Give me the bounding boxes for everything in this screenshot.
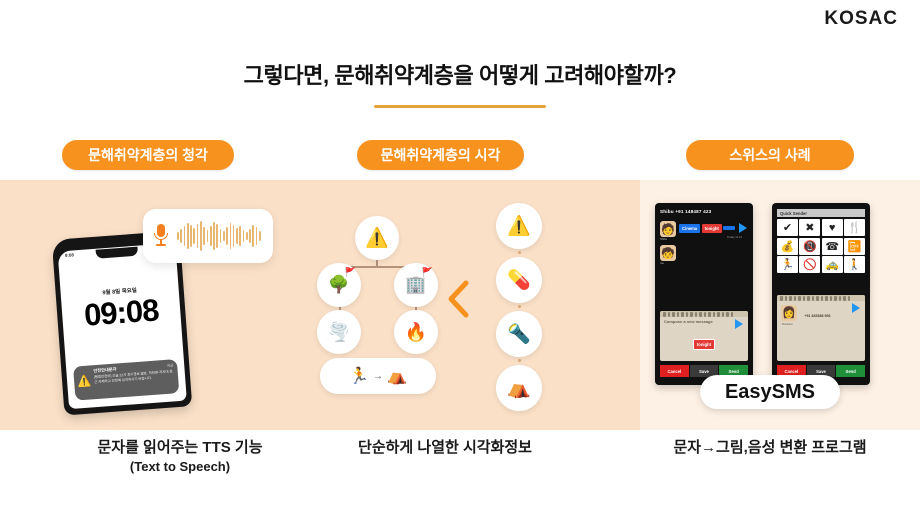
- brand-logo: KOSAC: [824, 8, 898, 30]
- waveform-bar: [230, 223, 232, 249]
- hazard-badge-icon: 🚩: [345, 267, 356, 278]
- cross-tile[interactable]: ✖: [799, 219, 820, 236]
- section-pill-vision: 문해취약계층의 시각: [357, 140, 524, 170]
- check-tile[interactable]: ✔: [777, 219, 798, 236]
- money-tile[interactable]: 💰: [777, 238, 798, 255]
- status-time: 9:08: [65, 252, 75, 261]
- spiral-ring: [681, 312, 684, 317]
- send-button-2[interactable]: Send: [836, 365, 865, 377]
- phone-notch: [96, 247, 139, 259]
- waveform-bar: [210, 226, 212, 246]
- waveform-bar: [243, 230, 245, 242]
- spiral-ring: [821, 296, 824, 301]
- tents-icon: ⛺: [387, 366, 407, 386]
- pill-capsule-icon: 💊: [496, 257, 542, 303]
- microphone-icon: [153, 223, 169, 249]
- fire-icon: 🔥: [394, 310, 438, 354]
- evacuate-pill: 🏃 → ⛺: [320, 358, 436, 394]
- spiral-ring: [839, 296, 842, 301]
- spiral-ring: [798, 296, 801, 301]
- waveform-bar: [233, 225, 235, 247]
- waveform-bar: [177, 232, 179, 240]
- band-arrow-head: [556, 180, 634, 430]
- hazard-badge-icon-2: 🚩: [422, 267, 433, 278]
- play-icon: [739, 223, 747, 233]
- sms-message-row-incoming: 🧑 Shibu Cinema tonight Today 11:14: [660, 221, 748, 239]
- spiral-ring: [731, 312, 734, 317]
- spiral-ring: [677, 312, 680, 317]
- lockscreen-time: 09:08: [61, 291, 181, 336]
- waveform-bar: [236, 228, 238, 244]
- section-pill-hearing: 문해취약계층의 청각: [62, 140, 234, 170]
- spiral-ring: [780, 296, 783, 301]
- waveform-bar: [193, 228, 195, 244]
- waveform-graphic: [177, 219, 261, 253]
- tree-hazard-icon: 🌳 🚩: [317, 263, 361, 307]
- sms-contact-header: Shibu +91 148487 423: [660, 209, 748, 217]
- spiral-ring: [695, 312, 698, 317]
- message-tag-strip: Cinema tonight: [679, 222, 748, 234]
- page-title: 그렇다면, 문해취약계층을 어떻게 고려해야할까?: [0, 58, 920, 90]
- no-signal-tile[interactable]: 📵: [799, 238, 820, 255]
- caption-swiss: 문자→그림,음성 변환 프로그램: [630, 436, 910, 457]
- spiral-ring: [825, 296, 828, 301]
- alert-warning-icon: ⚠️: [77, 376, 91, 388]
- caption-hearing-main: 문자를 읽어주는 TTS 기능: [97, 439, 262, 456]
- waveform-bar: [252, 225, 254, 247]
- pictogram-grid: ✔✖♥🍴💰📵☎📴🏃🚫🚕🚶: [777, 219, 865, 273]
- quick-sender-header: Quick Sender: [777, 209, 865, 217]
- waveform-bar: [213, 222, 215, 250]
- caption-hearing: 문자를 읽어주는 TTS 기능 (Text to Speech): [30, 436, 330, 474]
- phone-screen: 9:08 ▮▮ 9월 8일 목요일 09:08 ⚠️ 안전안내문자 지금 [행정…: [58, 243, 187, 409]
- phone-tile[interactable]: ☎: [822, 238, 843, 255]
- spiral-ring: [812, 296, 815, 301]
- waveform-bar: [184, 226, 186, 246]
- heart-tile[interactable]: ♥: [822, 219, 843, 236]
- warning-triangle-icon-col: ⚠️: [496, 203, 542, 249]
- spiral-ring: [686, 312, 689, 317]
- col-dot-2: [518, 305, 521, 308]
- spiral-ring: [843, 296, 846, 301]
- section-pill-swiss: 스위스의 사례: [686, 140, 854, 170]
- compose-content: tonight: [660, 326, 748, 361]
- compose-notepad[interactable]: Compose a new message tonight: [660, 311, 748, 361]
- emergency-alert-card[interactable]: ⚠️ 안전안내문자 지금 [행정안전부] 오늘 22시 호우경보 발효. 하천변…: [73, 359, 179, 401]
- reply-name: me: [660, 261, 664, 265]
- waveform-bar: [239, 226, 241, 246]
- spiral-ring: [699, 312, 702, 317]
- easysms-message-phone: Shibu +91 148487 423 🧑 Shibu Cinema toni…: [655, 203, 753, 385]
- spiral-ring: [789, 296, 792, 301]
- waveform-bar: [216, 224, 218, 248]
- tents-icon-col: ⛺: [496, 365, 542, 411]
- taxi-tile[interactable]: 🚕: [822, 256, 843, 273]
- caption-vision: 단순하게 나열한 시각화정보: [320, 436, 570, 457]
- spiral-ring: [663, 312, 666, 317]
- waveform-bar: [190, 225, 192, 247]
- running-person-icon: 🏃: [349, 366, 369, 386]
- sender-name: Shibu: [660, 237, 667, 241]
- waveform-bar: [180, 229, 182, 243]
- spiral-ring: [803, 296, 806, 301]
- avatar-me: 🧒: [660, 245, 676, 261]
- spiral-ring: [726, 312, 729, 317]
- waveform-bar: [256, 227, 258, 245]
- contact-number: +91 845388 556: [804, 314, 830, 318]
- spiral-ring: [704, 312, 707, 317]
- waveform-bar: [226, 227, 228, 245]
- flashlight-icon: 🔦: [496, 311, 542, 357]
- tag-cinema: Cinema: [679, 224, 700, 233]
- contact-avatar: 👩: [781, 305, 797, 321]
- arrow-right-icon: →: [373, 371, 383, 382]
- tornado-icon: 🌪️: [317, 310, 361, 354]
- waveform-bar: [246, 232, 248, 240]
- col-dot-3: [518, 359, 521, 362]
- caption-hearing-sub: (Text to Speech): [30, 459, 330, 474]
- avatar: 🧑: [660, 221, 676, 237]
- slide-root: KOSAC 그렇다면, 문해취약계층을 어떻게 고려해야할까? 문해취약계층의 …: [0, 0, 920, 518]
- building-icon: 🏢: [405, 275, 426, 295]
- food-tile[interactable]: 🍴: [844, 219, 865, 236]
- warning-triangle-icon: ⚠️: [355, 216, 399, 260]
- compose-play-icon[interactable]: [735, 319, 743, 329]
- waveform-bar: [220, 229, 222, 243]
- title-underline: [374, 105, 546, 108]
- sms-message-row-outgoing: 🧒 me: [660, 245, 748, 263]
- tree-icon: 🌳: [328, 275, 349, 295]
- building-hazard-icon: 🏢 🚩: [394, 263, 438, 307]
- running-tile[interactable]: 🏃: [777, 256, 798, 273]
- waveform-bar: [200, 221, 202, 251]
- waveform-bar: [259, 231, 261, 241]
- compose-tag: tonight: [693, 339, 715, 350]
- tts-voice-card[interactable]: [143, 209, 273, 263]
- quicksender-notepad[interactable]: 👩 +91 845388 556 Manisha: [777, 295, 865, 361]
- spiral-ring: [794, 296, 797, 301]
- spiral-ring: [668, 312, 671, 317]
- quicksender-play-icon[interactable]: [852, 303, 860, 313]
- spiral-ring: [785, 296, 788, 301]
- tag-tonight: tonight: [702, 224, 722, 233]
- waveform-bar: [203, 227, 205, 245]
- spiral-ring: [722, 312, 725, 317]
- waveform-bar: [207, 230, 209, 242]
- tag-extra: [723, 226, 735, 230]
- call-end-tile[interactable]: 📴: [844, 238, 865, 255]
- spiral-ring: [816, 296, 819, 301]
- spiral-ring: [708, 312, 711, 317]
- spiral-ring: [834, 296, 837, 301]
- spiral-ring: [807, 296, 810, 301]
- waveform-bar: [249, 229, 251, 243]
- no-phone-tile[interactable]: 🚫: [799, 256, 820, 273]
- contact-name: Manisha: [782, 322, 861, 326]
- spiral-ring: [717, 312, 720, 317]
- person-tile[interactable]: 🚶: [844, 256, 865, 273]
- message-timestamp: Today 11:14: [727, 235, 742, 239]
- spiral-ring: [830, 296, 833, 301]
- easysms-app-label: EasySMS: [700, 375, 840, 409]
- spiral-ring: [713, 312, 716, 317]
- waveform-bar: [223, 231, 225, 241]
- spiral-ring: [848, 296, 851, 301]
- waveform-bar: [187, 223, 189, 249]
- spiral-ring: [672, 312, 675, 317]
- alert-timestamp: 지금: [167, 362, 174, 367]
- col-dot-1: [518, 251, 521, 254]
- waveform-bar: [197, 224, 199, 248]
- cancel-button[interactable]: Cancel: [660, 365, 689, 377]
- spiral-ring: [690, 312, 693, 317]
- chevron-left-icon: [447, 280, 469, 318]
- easysms-quicksender-phone: Quick Sender ✔✖♥🍴💰📵☎📴🏃🚫🚕🚶 👩 +91 845388 5…: [772, 203, 870, 385]
